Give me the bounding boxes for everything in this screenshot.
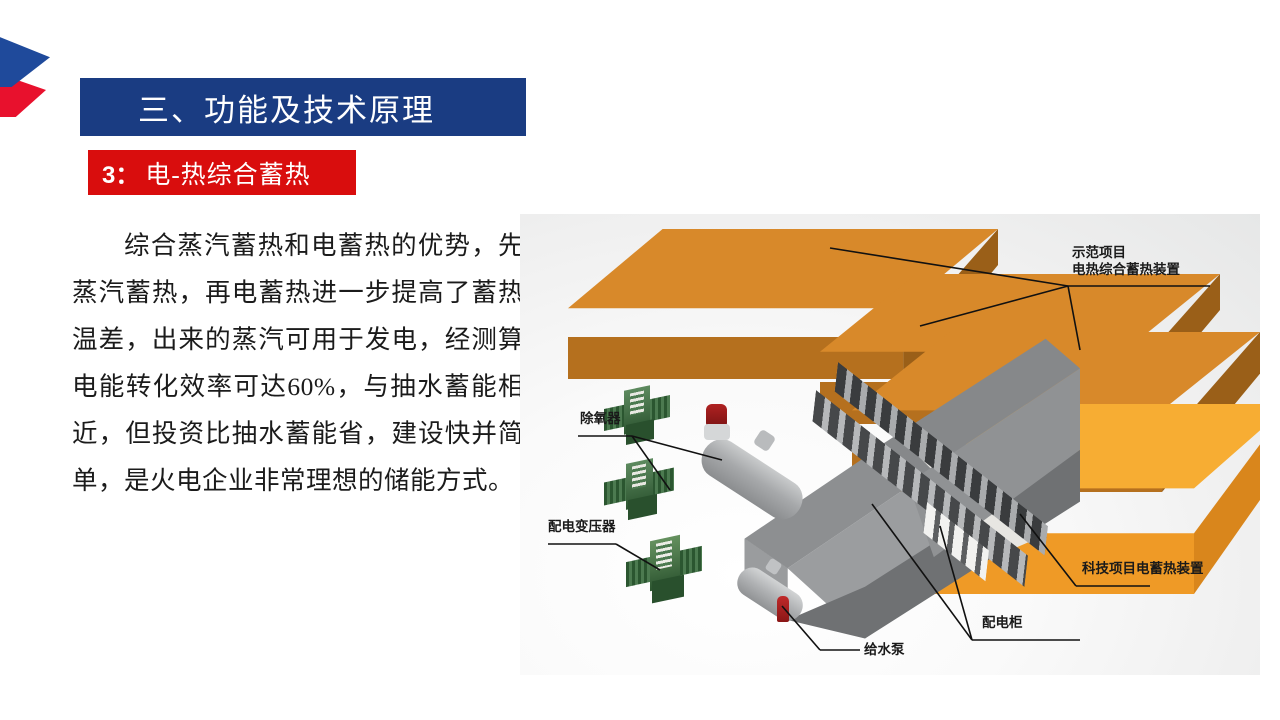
deaerator-valve-base bbox=[704, 424, 730, 440]
transformer-bushings bbox=[656, 540, 672, 569]
callout-demo-project: 示范项目 电热综合蓄热装置 bbox=[1072, 244, 1180, 278]
callout-distribution-transformer: 配电变压器 bbox=[548, 518, 616, 535]
subsection-title: 电-热综合蓄热 bbox=[145, 155, 310, 191]
callout-distribution-cabinet: 配电柜 bbox=[982, 614, 1023, 631]
body-paragraph: 综合蒸汽蓄热和电蓄热的优势，先蒸汽蓄热，再电蓄热进一步提高了蓄热温差，出来的蒸汽… bbox=[72, 222, 524, 504]
illustration-panel: 示范项目 电热综合蓄热装置 除氧器 配电变压器 给水泵 配电柜 科技项目电蓄热装… bbox=[520, 214, 1260, 675]
feedwater-pump-marker-red bbox=[777, 596, 789, 622]
corner-logo bbox=[0, 25, 72, 120]
transformer-unit-2 bbox=[604, 457, 674, 519]
transformer-bushings bbox=[632, 464, 646, 490]
transformer-base bbox=[626, 419, 654, 445]
section-heading-bar: 三、功能及技术原理 bbox=[80, 78, 526, 136]
section-heading-text: 三、功能及技术原理 bbox=[138, 85, 435, 130]
callout-deaerator: 除氧器 bbox=[580, 410, 621, 427]
callout-feedwater-pump: 给水泵 bbox=[864, 641, 905, 658]
callout-tech-project: 科技项目电蓄热装置 bbox=[1082, 560, 1204, 577]
transformer-unit-3 bbox=[626, 534, 702, 602]
subsection-number: 3： bbox=[102, 155, 139, 190]
subsection-heading-bar: 3： 电-热综合蓄热 bbox=[88, 150, 356, 195]
deaerator-valve-red bbox=[706, 404, 727, 426]
transformer-bushings bbox=[630, 391, 644, 416]
logo-blue-chevron-icon bbox=[0, 25, 50, 87]
slide-canvas: 三、功能及技术原理 3： 电-热综合蓄热 综合蒸汽蓄热和电蓄热的优势，先蒸汽蓄热… bbox=[0, 0, 1280, 720]
